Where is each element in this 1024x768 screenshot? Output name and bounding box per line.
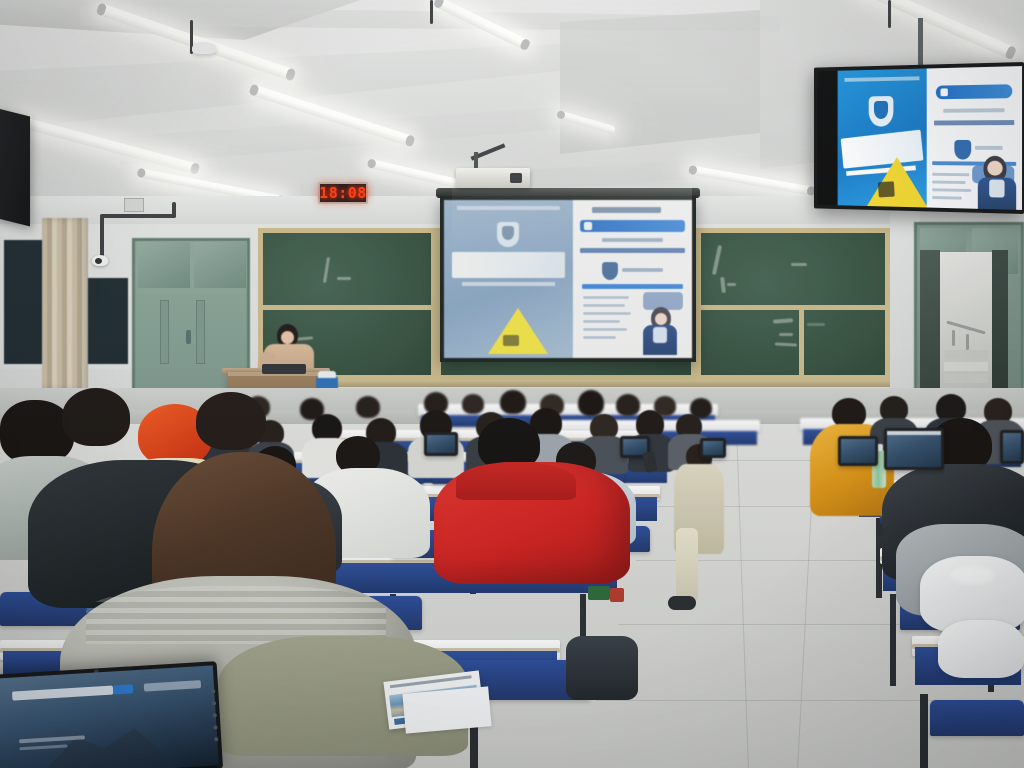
left-door-glass xyxy=(138,242,190,288)
light-hanger-rod xyxy=(430,0,433,24)
item-on-desk xyxy=(588,586,610,600)
right-door-open-leaf[interactable] xyxy=(920,250,940,402)
laptop[interactable] xyxy=(1000,430,1024,464)
floor-tile-line xyxy=(636,560,886,561)
left-door-panel xyxy=(160,300,169,364)
chalk-writing xyxy=(791,263,807,266)
wall-conduit xyxy=(172,202,176,218)
slide-subtitle-block xyxy=(462,282,555,286)
warning-triangle-icon xyxy=(488,308,548,354)
wall-conduit xyxy=(100,216,104,260)
hoodie-hood xyxy=(456,462,576,500)
right-door-open-leaf[interactable] xyxy=(992,250,1008,406)
slide-left-panel xyxy=(444,200,573,358)
chalk-tray xyxy=(258,380,890,387)
light-hanger-rod xyxy=(888,0,891,28)
tv-slide-right-panel xyxy=(927,66,1022,210)
item-on-desk xyxy=(610,588,624,602)
white-plastic-bag xyxy=(938,620,1024,678)
slide-lower-card xyxy=(578,258,688,355)
illustration-character xyxy=(976,156,1018,210)
search-button xyxy=(113,684,133,694)
chalk-writing xyxy=(779,333,793,336)
floor-tile-line xyxy=(618,624,908,625)
tv-slide-left-panel xyxy=(837,68,926,207)
bag-highlight xyxy=(950,566,994,584)
classroom-photo: 18:08 xyxy=(0,0,1024,768)
laptop[interactable] xyxy=(884,428,944,470)
green-chalkboard xyxy=(696,228,890,380)
seat-back xyxy=(930,700,1024,736)
laptop[interactable] xyxy=(424,432,458,456)
app-banner-block xyxy=(580,220,685,232)
police-emblem-icon xyxy=(497,222,519,247)
search-input xyxy=(12,686,114,701)
door-handle[interactable] xyxy=(186,330,191,344)
corridor-beyond-door xyxy=(940,252,992,402)
slide-right-panel xyxy=(573,200,692,358)
floor-tile-line xyxy=(596,700,936,701)
laptop-screen[interactable] xyxy=(0,665,219,768)
security-camera-icon xyxy=(92,255,108,266)
shield-icon xyxy=(602,262,618,280)
system-tray xyxy=(143,680,201,691)
ceiling-projector xyxy=(456,168,530,188)
open-laptop[interactable] xyxy=(0,661,223,768)
wall-digital-clock: 18:08 xyxy=(318,182,368,204)
chalk-writing xyxy=(727,283,736,286)
projection-slide xyxy=(444,200,692,358)
side-wall-display[interactable] xyxy=(0,108,30,227)
laptop-on-podium xyxy=(262,364,306,374)
warning-triangle-text xyxy=(878,181,895,197)
left-door-glass xyxy=(194,242,246,288)
left-door-panel xyxy=(196,300,205,364)
clock-time: 18:08 xyxy=(319,184,367,202)
projector-lens xyxy=(510,173,522,183)
slide-title-block xyxy=(452,252,565,278)
police-emblem-icon xyxy=(869,96,894,127)
smoke-detector xyxy=(192,42,216,54)
student-shoe xyxy=(668,596,696,610)
wall-conduit xyxy=(100,214,176,218)
shield-icon xyxy=(955,140,972,160)
projection-screen xyxy=(440,196,696,362)
wall-mounted-led-tv[interactable] xyxy=(814,62,1024,214)
tv-mount-arm xyxy=(918,18,923,66)
app-banner-block xyxy=(936,84,1012,99)
paper-stack xyxy=(402,686,491,733)
electrical-box xyxy=(124,198,144,212)
student-legs xyxy=(676,528,698,602)
warning-triangle-icon xyxy=(867,157,928,208)
window-curtain xyxy=(42,218,88,390)
chalk-writing xyxy=(807,323,825,326)
laptop[interactable] xyxy=(700,438,726,458)
warning-triangle-text xyxy=(503,335,519,346)
backpack xyxy=(566,636,638,700)
laptop[interactable] xyxy=(838,436,878,466)
